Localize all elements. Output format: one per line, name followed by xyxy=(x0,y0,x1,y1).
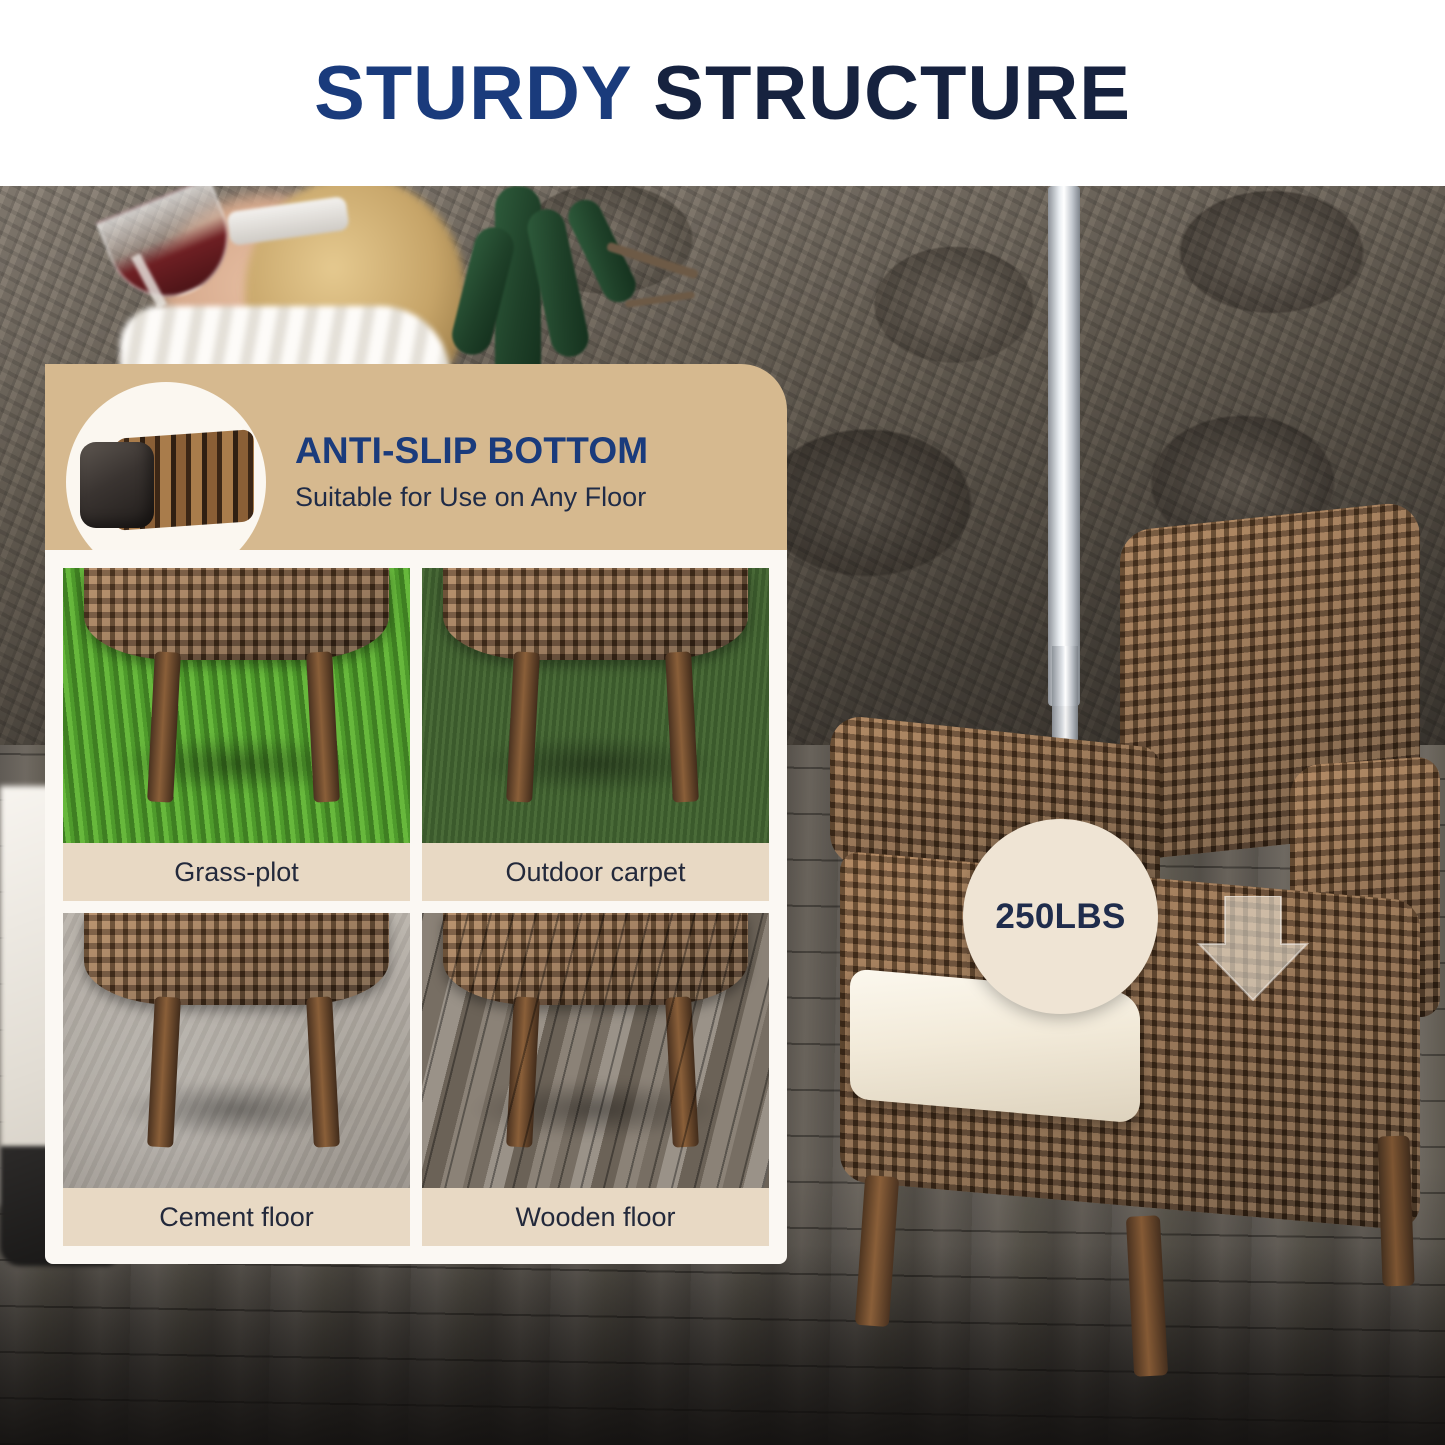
surface-cell-outdoor-carpet: Outdoor carpet xyxy=(422,568,769,901)
chair-fragment xyxy=(443,568,748,721)
chair-fragment xyxy=(443,913,748,1066)
header-banner: STURDY STRUCTURE xyxy=(0,0,1445,186)
product-photo: 250LBS ANTI-SLIP BOTTOM Suitable for Use… xyxy=(0,186,1445,1445)
info-panel-text: ANTI-SLIP BOTTOM Suitable for Use on Any… xyxy=(295,430,765,513)
chair-fragment xyxy=(84,568,389,721)
anti-slip-foot-pad-icon xyxy=(80,432,252,532)
anti-slip-info-panel: ANTI-SLIP BOTTOM Suitable for Use on Any… xyxy=(45,364,787,1264)
weight-capacity-badge: 250LBS xyxy=(963,819,1158,1014)
chair-leg-rear-right xyxy=(1377,1135,1414,1286)
page-title-part1: STURDY xyxy=(314,51,631,136)
surface-cell-grass: Grass-plot xyxy=(63,568,410,901)
surface-cell-wooden: Wooden floor xyxy=(422,913,769,1246)
surface-examples-grid: Grass-plot Outdoor carpet xyxy=(63,568,769,1246)
surface-examples-card: Grass-plot Outdoor carpet xyxy=(45,550,787,1264)
surface-caption-cement: Cement floor xyxy=(63,1188,410,1246)
info-panel-subtitle: Suitable for Use on Any Floor xyxy=(295,482,765,513)
page-title-part2: STRUCTURE xyxy=(653,51,1131,136)
chair-leg-front-left xyxy=(855,1175,899,1327)
surface-caption-outdoor-carpet: Outdoor carpet xyxy=(422,843,769,901)
downward-pressure-arrow-icon xyxy=(1195,896,1311,1001)
product-infographic: STURDY STRUCTURE xyxy=(0,0,1445,1445)
chair-leg-front-right xyxy=(1126,1215,1168,1377)
surface-caption-grass: Grass-plot xyxy=(63,843,410,901)
page-title: STURDY STRUCTURE xyxy=(314,50,1131,137)
surface-cell-cement: Cement floor xyxy=(63,913,410,1246)
weight-capacity-label: 250LBS xyxy=(995,897,1125,937)
info-panel-title: ANTI-SLIP BOTTOM xyxy=(295,430,765,472)
chair-fragment xyxy=(84,913,389,1066)
wine-glass-icon xyxy=(110,196,240,336)
surface-caption-wooden: Wooden floor xyxy=(422,1188,769,1246)
